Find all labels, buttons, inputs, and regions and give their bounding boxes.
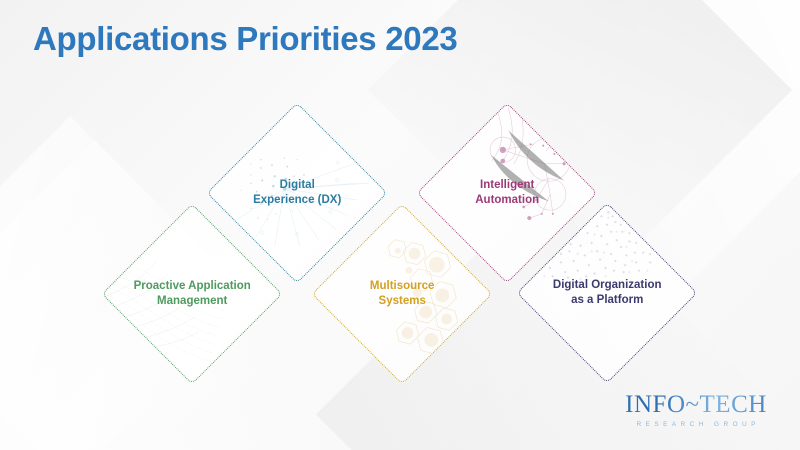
page-title: Applications Priorities 2023 xyxy=(33,20,457,58)
slide-canvas: Applications Priorities 2023 xyxy=(0,0,800,450)
logo-wordmark: INFO~TECH xyxy=(616,392,776,417)
diamond-label: Multisource Systems xyxy=(339,279,465,308)
diamond-label: Proactive Application Management xyxy=(129,279,255,308)
diamond-label: Intelligent Automation xyxy=(444,178,570,207)
diamond-label: Digital Experience (DX) xyxy=(234,178,360,207)
diamond-label: Digital Organization as a Platform xyxy=(544,278,670,307)
info-tech-logo: INFO~TECH RESEARCH GROUP xyxy=(616,392,776,428)
logo-tagline: RESEARCH GROUP xyxy=(616,421,776,428)
